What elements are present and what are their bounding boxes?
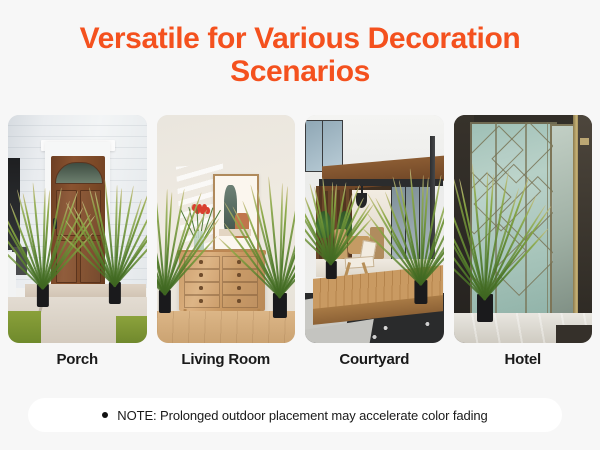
caption-living-room: Living Room [157,350,296,374]
caption-courtyard: Courtyard [305,350,444,374]
page-title: Versatile for Various Decoration Scenari… [0,22,600,88]
page-title-line-1: Versatile for Various Decoration [0,22,600,55]
drawer-knob [199,286,203,290]
living-room-scene-illustration [157,115,296,343]
note-banner: NOTE: Prolonged outdoor placement may ac… [28,398,562,432]
decor-grass-plant [25,206,61,306]
caption-porch: Porch [8,350,147,374]
drawer-knob [237,286,241,290]
scenario-image-courtyard[interactable] [305,115,444,343]
scenario-image-porch[interactable] [8,115,147,343]
drawer-knob [199,260,203,264]
drawer-knob [199,299,203,303]
decor-grass-plant [97,204,133,304]
drawer-knob [199,273,203,277]
decor-grass-plant [157,209,183,314]
infographic-page: Versatile for Various Decoration Scenari… [0,0,600,450]
decor-grass-plant [316,197,346,279]
decor-grass-plant [462,195,509,323]
drawer-knob [237,299,241,303]
bullet-dot-icon [102,412,108,418]
page-title-line-2: Scenarios [0,55,600,88]
decor-grass-plant [259,204,295,318]
scenario-image-living-room[interactable] [157,115,296,343]
caption-hotel: Hotel [454,350,593,374]
scenario-gallery [8,115,592,343]
note-text: NOTE: Prolonged outdoor placement may ac… [117,408,487,423]
porch-scene-illustration [8,115,147,343]
decor-grass-plant [402,195,441,304]
scenario-image-hotel[interactable] [454,115,593,343]
hotel-scene-illustration [454,115,593,343]
drawer-knob [237,273,241,277]
courtyard-scene-illustration [305,115,444,343]
scenario-caption-row: Porch Living Room Courtyard Hotel [8,350,592,374]
